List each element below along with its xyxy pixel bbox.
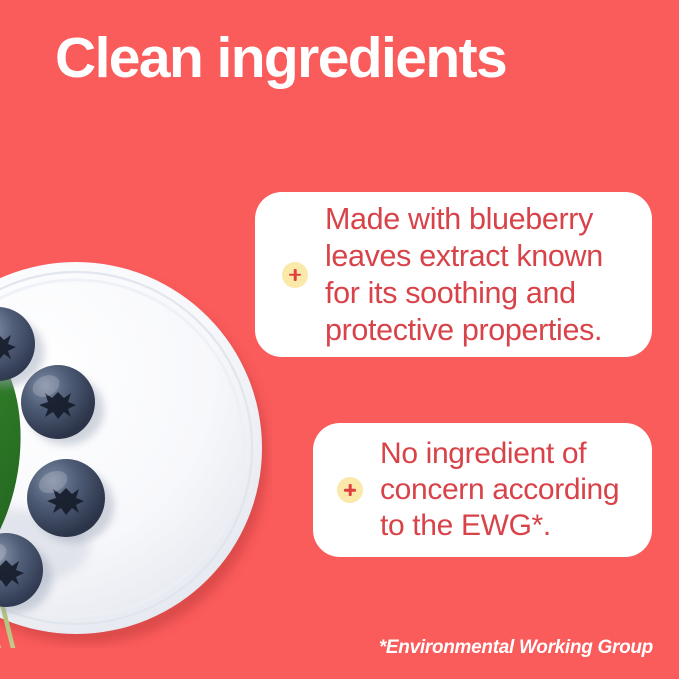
footnote: *Environmental Working Group — [379, 637, 653, 659]
page-title: Clean ingredients — [55, 28, 506, 90]
plus-icon — [337, 477, 363, 503]
plus-icon — [282, 262, 308, 288]
benefit-card-1: Made with blueberry leaves extract known… — [255, 192, 652, 357]
blueberry-petri-dish-photo — [0, 248, 272, 648]
benefit-card-2-text: No ingredient of concern according to th… — [380, 436, 619, 544]
benefit-card-2: No ingredient of concern according to th… — [313, 423, 652, 557]
promo-graphic: Clean ingredients — [0, 0, 679, 679]
benefit-card-1-text: Made with blueberry leaves extract known… — [325, 201, 603, 349]
